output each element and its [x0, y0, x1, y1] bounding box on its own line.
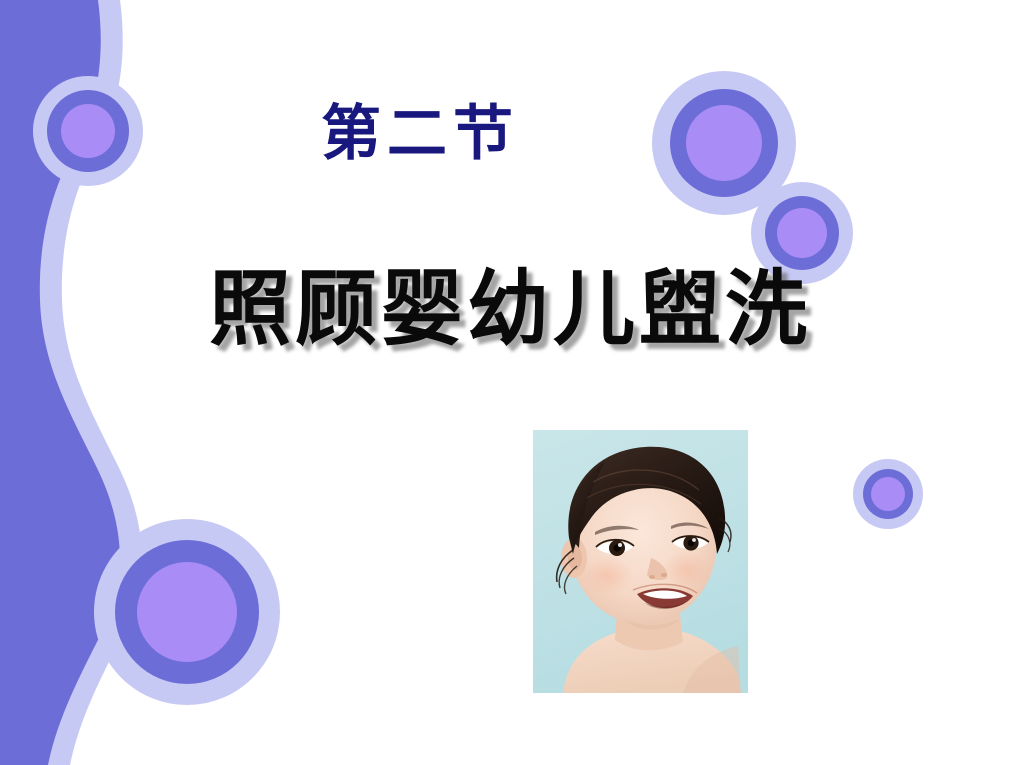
baby-photo-image: [533, 430, 748, 693]
page-title: 照顾婴幼儿盥洗: [0, 268, 1020, 350]
slide-canvas: 第二节 照顾婴幼儿盥洗: [0, 0, 1020, 765]
circle-right-small: [853, 459, 923, 529]
circle-bottom-left: [94, 519, 280, 705]
section-label: 第二节: [0, 104, 840, 164]
baby-photo: [533, 430, 748, 693]
